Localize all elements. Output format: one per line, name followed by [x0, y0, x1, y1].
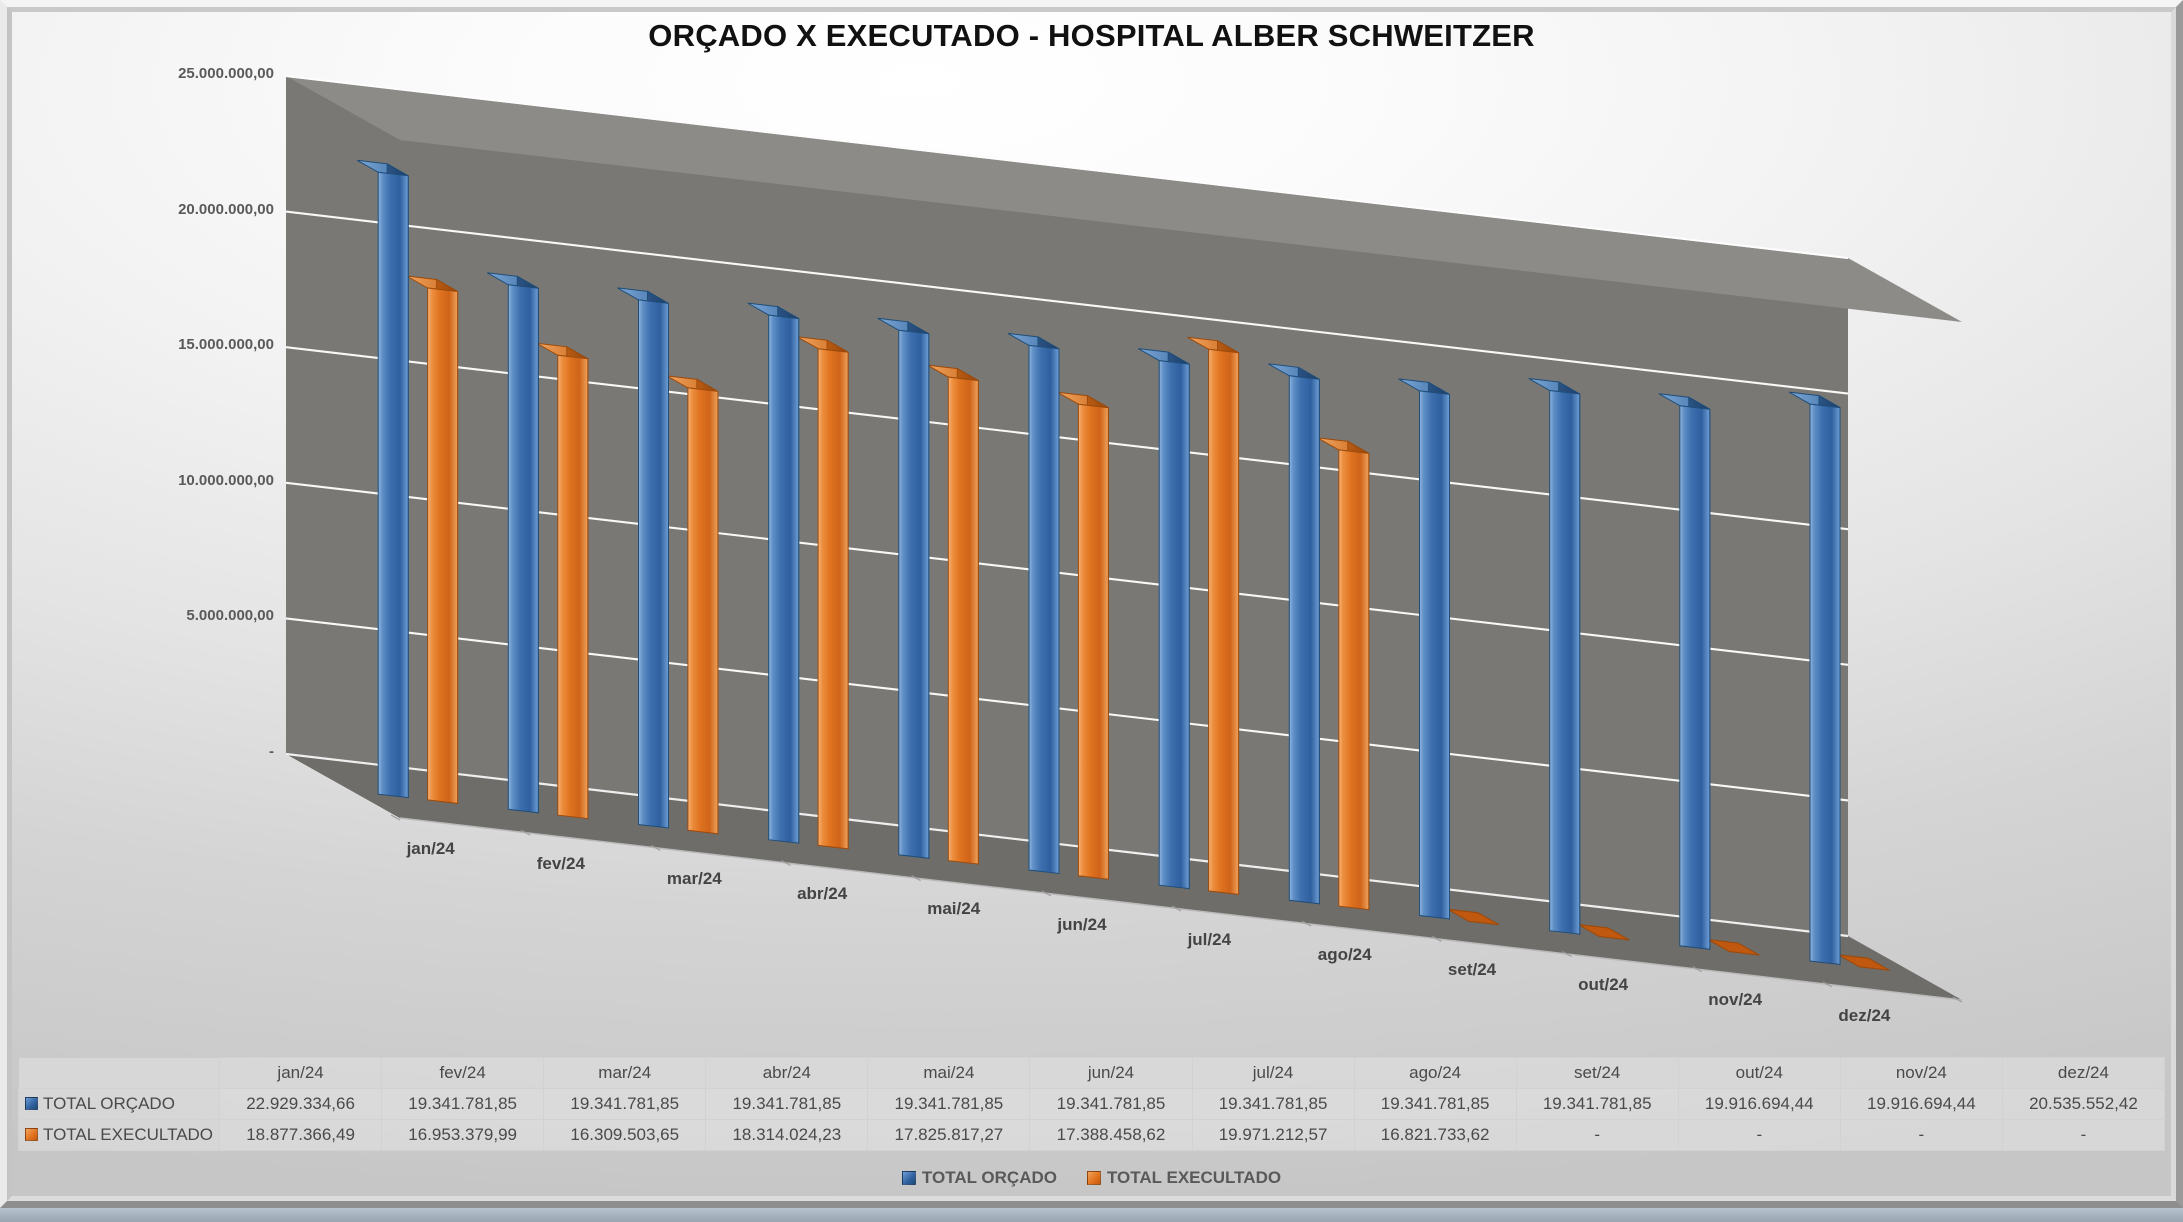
- legend-item[interactable]: TOTAL ORÇADO: [902, 1168, 1057, 1188]
- table-row-label: TOTAL EXECULTADO: [43, 1125, 213, 1144]
- chart-legend: TOTAL ORÇADOTOTAL EXECULTADO: [0, 1168, 2183, 1188]
- table-column-header: fev/24: [382, 1058, 544, 1089]
- series-color-swatch-icon: [25, 1097, 38, 1110]
- x-axis-tick-label: nov/24: [1708, 990, 1762, 1010]
- legend-label: TOTAL ORÇADO: [922, 1168, 1057, 1188]
- table-column-header: mai/24: [868, 1058, 1030, 1089]
- table-header-row: jan/24fev/24mar/24abr/24mai/24jun/24jul/…: [19, 1058, 2165, 1089]
- table-column-header: abr/24: [706, 1058, 868, 1089]
- x-axis-tick-label: ago/24: [1318, 945, 1372, 965]
- x-axis-tick-label: abr/24: [797, 884, 847, 904]
- table-cell: 16.953.379,99: [382, 1120, 544, 1151]
- x-axis-tick-label: mai/24: [927, 899, 980, 919]
- table-cell: 18.314.024,23: [706, 1120, 868, 1151]
- table-cell: 19.916.694,44: [1678, 1089, 1840, 1120]
- x-axis-tick-label: jul/24: [1188, 930, 1231, 950]
- x-axis-tick-label: out/24: [1578, 975, 1628, 995]
- table-column-header: dez/24: [2002, 1058, 2164, 1089]
- y-axis-tick-label: 5.000.000,00: [186, 607, 274, 624]
- series-color-swatch-icon: [25, 1128, 38, 1141]
- plot-area-3d: [0, 0, 2183, 1222]
- table-row-header: TOTAL EXECULTADO: [19, 1120, 220, 1151]
- chart-frame: ORÇADO X EXECUTADO - HOSPITAL ALBER SCHW…: [0, 0, 2183, 1222]
- table-column-header: jul/24: [1192, 1058, 1354, 1089]
- table-cell: 16.309.503,65: [544, 1120, 706, 1151]
- table-cell: -: [1840, 1120, 2002, 1151]
- table-cell: 19.971.212,57: [1192, 1120, 1354, 1151]
- y-axis-tick-label: 10.000.000,00: [178, 472, 274, 489]
- data-table: jan/24fev/24mar/24abr/24mai/24jun/24jul/…: [18, 1057, 2165, 1151]
- table-column-header: nov/24: [1840, 1058, 2002, 1089]
- table-cell: 20.535.552,42: [2002, 1089, 2164, 1120]
- table-cell: 19.341.781,85: [1030, 1089, 1192, 1120]
- x-axis-tick-label: set/24: [1448, 960, 1496, 980]
- table-row: TOTAL EXECULTADO18.877.366,4916.953.379,…: [19, 1120, 2165, 1151]
- table-cell: 17.825.817,27: [868, 1120, 1030, 1151]
- table-cell: -: [1516, 1120, 1678, 1151]
- table-cell: 19.341.781,85: [868, 1089, 1030, 1120]
- table-row-header: TOTAL ORÇADO: [19, 1089, 220, 1120]
- table-cell: 19.341.781,85: [382, 1089, 544, 1120]
- legend-color-swatch-icon: [902, 1171, 916, 1185]
- table-cell: 18.877.366,49: [220, 1120, 382, 1151]
- table-corner-cell: [19, 1058, 220, 1089]
- table-row-label: TOTAL ORÇADO: [43, 1094, 175, 1113]
- chart-title: ORÇADO X EXECUTADO - HOSPITAL ALBER SCHW…: [0, 18, 2183, 54]
- table-column-header: ago/24: [1354, 1058, 1516, 1089]
- y-axis-tick-label: 25.000.000,00: [178, 65, 274, 82]
- x-axis-tick-label: mar/24: [667, 869, 722, 889]
- legend-label: TOTAL EXECULTADO: [1107, 1168, 1281, 1188]
- table-cell: 22.929.334,66: [220, 1089, 382, 1120]
- table-row: TOTAL ORÇADO22.929.334,6619.341.781,8519…: [19, 1089, 2165, 1120]
- table-column-header: out/24: [1678, 1058, 1840, 1089]
- table-cell: 19.341.781,85: [1354, 1089, 1516, 1120]
- y-axis-tick-label: 15.000.000,00: [178, 336, 274, 353]
- y-axis-tick-label: -: [269, 743, 274, 760]
- table-cell: -: [2002, 1120, 2164, 1151]
- frame-bottom-band: [0, 1208, 2183, 1222]
- table-cell: 19.341.781,85: [544, 1089, 706, 1120]
- table-cell: 19.341.781,85: [1192, 1089, 1354, 1120]
- table-column-header: jun/24: [1030, 1058, 1192, 1089]
- x-axis-tick-label: fev/24: [537, 854, 585, 874]
- table-cell: 19.916.694,44: [1840, 1089, 2002, 1120]
- table-column-header: jan/24: [220, 1058, 382, 1089]
- table-cell: 19.341.781,85: [706, 1089, 868, 1120]
- x-axis-tick-label: dez/24: [1838, 1006, 1890, 1026]
- legend-color-swatch-icon: [1087, 1171, 1101, 1185]
- table-cell: 19.341.781,85: [1516, 1089, 1678, 1120]
- table-cell: -: [1678, 1120, 1840, 1151]
- table-column-header: mar/24: [544, 1058, 706, 1089]
- x-axis-tick-label: jan/24: [407, 839, 455, 859]
- table-cell: 16.821.733,62: [1354, 1120, 1516, 1151]
- legend-item[interactable]: TOTAL EXECULTADO: [1087, 1168, 1281, 1188]
- x-axis-tick-label: jun/24: [1057, 915, 1106, 935]
- table-cell: 17.388.458,62: [1030, 1120, 1192, 1151]
- y-axis-tick-label: 20.000.000,00: [178, 201, 274, 218]
- table-column-header: set/24: [1516, 1058, 1678, 1089]
